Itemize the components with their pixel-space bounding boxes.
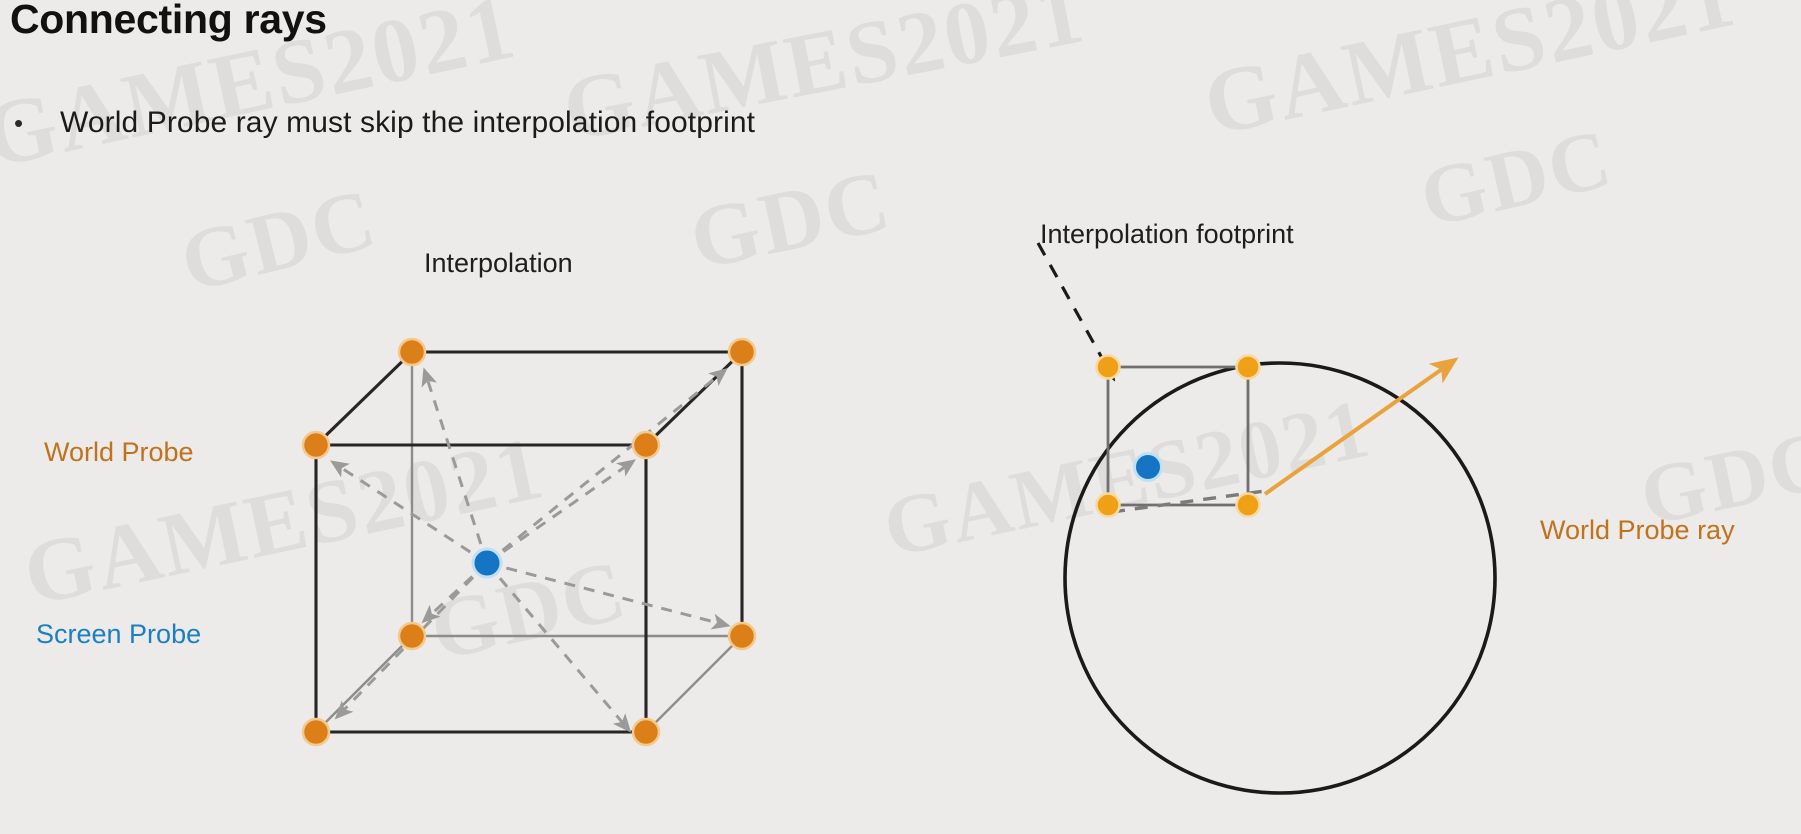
left-diagram-caption: Interpolation	[424, 248, 573, 279]
world-probe-node	[729, 339, 755, 365]
world-probe-node	[1097, 356, 1120, 379]
world-probe-ray-arrow	[1265, 362, 1452, 494]
cube-diagram	[303, 339, 755, 745]
footprint-diagram	[1038, 243, 1495, 793]
footprint-annotation-arrow	[1038, 243, 1112, 376]
screen-probe-node	[473, 549, 501, 577]
world-probe-node	[633, 432, 659, 458]
world-probe-node	[303, 719, 329, 745]
world-probe-node	[729, 623, 755, 649]
slide-canvas: GAMES2021 GDC GAMES2021 GDC GAMES2021 GD…	[0, 0, 1801, 834]
world-probe-node	[1097, 494, 1120, 517]
interp-ray	[487, 563, 726, 625]
world-probe-node	[399, 339, 425, 365]
legend-label-world-probe: World Probe	[44, 437, 194, 468]
interp-ray	[334, 463, 487, 563]
annotation-label-interpolation-footprint: Interpolation footprint	[1040, 219, 1294, 250]
interp-ray	[487, 563, 628, 729]
screen-probe-node	[1135, 454, 1162, 481]
interp-ray	[425, 372, 487, 563]
world-probe-node	[1237, 494, 1260, 517]
world-probe-node	[1237, 356, 1260, 379]
world-probe-node	[303, 432, 329, 458]
interp-ray	[487, 462, 632, 563]
legend-label-screen-probe: Screen Probe	[36, 619, 201, 650]
world-probe-node	[633, 719, 659, 745]
probe-influence-circle	[1065, 363, 1495, 793]
world-probe-node	[399, 623, 425, 649]
diagrams-svg	[0, 0, 1801, 834]
annotation-label-world-probe-ray: World Probe ray	[1540, 515, 1735, 546]
interp-ray	[487, 371, 724, 563]
